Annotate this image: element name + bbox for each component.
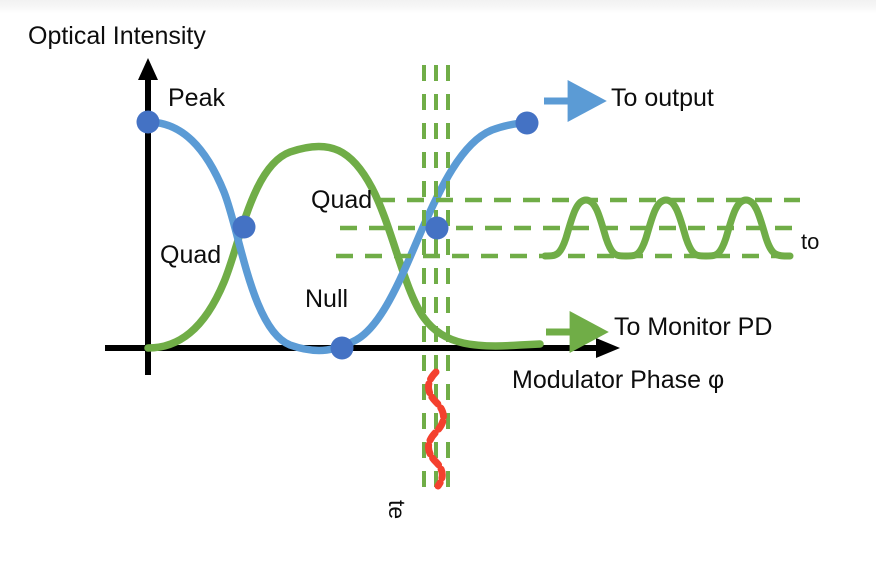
diagram-canvas: Optical Intensity Peak Quad Null Quad To… [0,0,876,565]
label-null: Null [305,287,348,312]
label-to-fragment: to [801,231,819,253]
label-to-monitor-pd: To Monitor PD [614,315,772,340]
bias-point-peak [137,111,160,134]
diagram-graphics [0,0,876,565]
bias-point-null [331,337,354,360]
bias-point-output [516,112,539,135]
label-to-output: To output [611,86,714,111]
bias-point-quad-left [233,216,256,239]
label-quad-right: Quad [311,188,372,213]
axis-y [138,58,158,375]
label-quad-left: Quad [160,243,221,268]
label-peak: Peak [168,86,225,111]
bias-point-quad-right [426,217,449,240]
label-dither-rotated: te [385,500,408,519]
x-axis-label: Modulator Phase φ [512,368,724,393]
y-axis-label: Optical Intensity [28,24,206,49]
